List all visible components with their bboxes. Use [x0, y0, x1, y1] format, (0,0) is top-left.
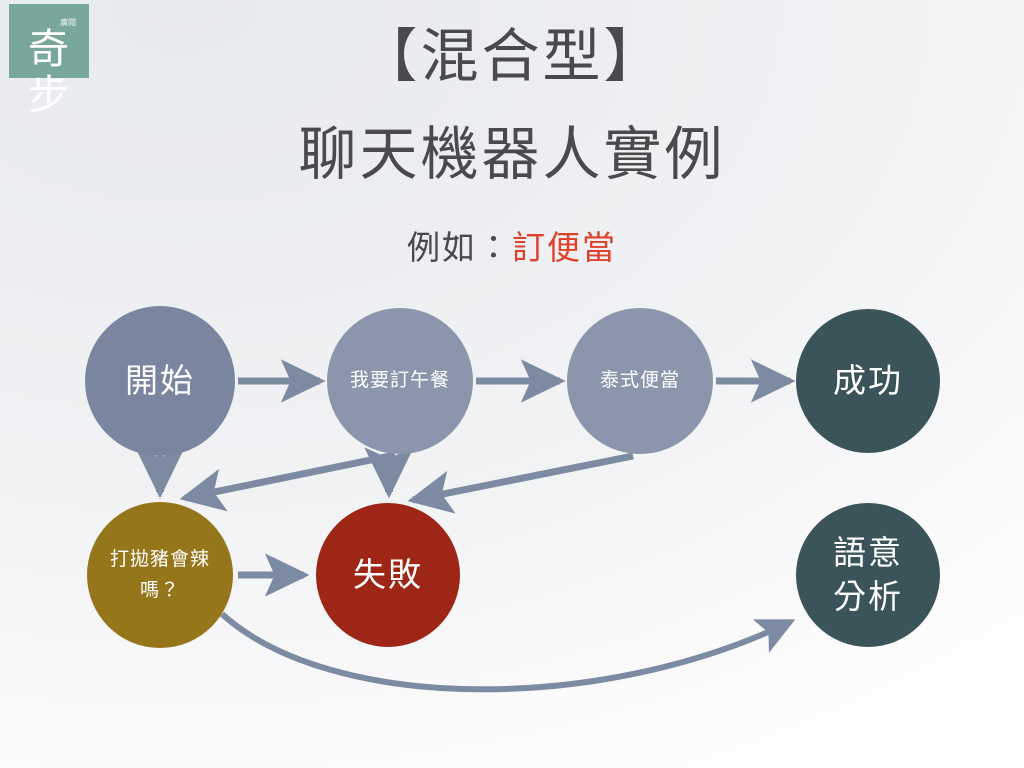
- node-spicy-label: 打拋豬會辣 嗎？: [87, 544, 233, 606]
- node-thai-label: 泰式便當: [567, 368, 713, 394]
- chatbot-flow-diagram: 開始 我要訂午餐 泰式便當 成功 打拋豬會辣 嗎？ 失敗 語意 分析: [0, 0, 1024, 768]
- node-semantic-label: 語意 分析: [796, 531, 940, 619]
- node-start-label: 開始: [85, 361, 235, 401]
- node-start[interactable]: 開始: [85, 306, 235, 456]
- node-success[interactable]: 成功: [796, 309, 940, 453]
- node-fail-label: 失敗: [316, 555, 460, 595]
- node-semantic[interactable]: 語意 分析: [796, 503, 940, 647]
- edge-thai-to-fail: [413, 456, 633, 500]
- node-fail[interactable]: 失敗: [316, 503, 460, 647]
- node-thai[interactable]: 泰式便當: [567, 308, 713, 454]
- node-spicy[interactable]: 打拋豬會辣 嗎？: [87, 502, 233, 648]
- edge-order-to-spicy: [185, 455, 395, 498]
- slide-canvas: 廣閱 奇步 【混合型】 聊天機器人實例 例如：訂便當: [0, 0, 1024, 768]
- node-order-label: 我要訂午餐: [327, 368, 473, 394]
- node-order[interactable]: 我要訂午餐: [327, 308, 473, 454]
- node-success-label: 成功: [796, 361, 940, 401]
- edge-spicy-to-semantic: [222, 614, 790, 689]
